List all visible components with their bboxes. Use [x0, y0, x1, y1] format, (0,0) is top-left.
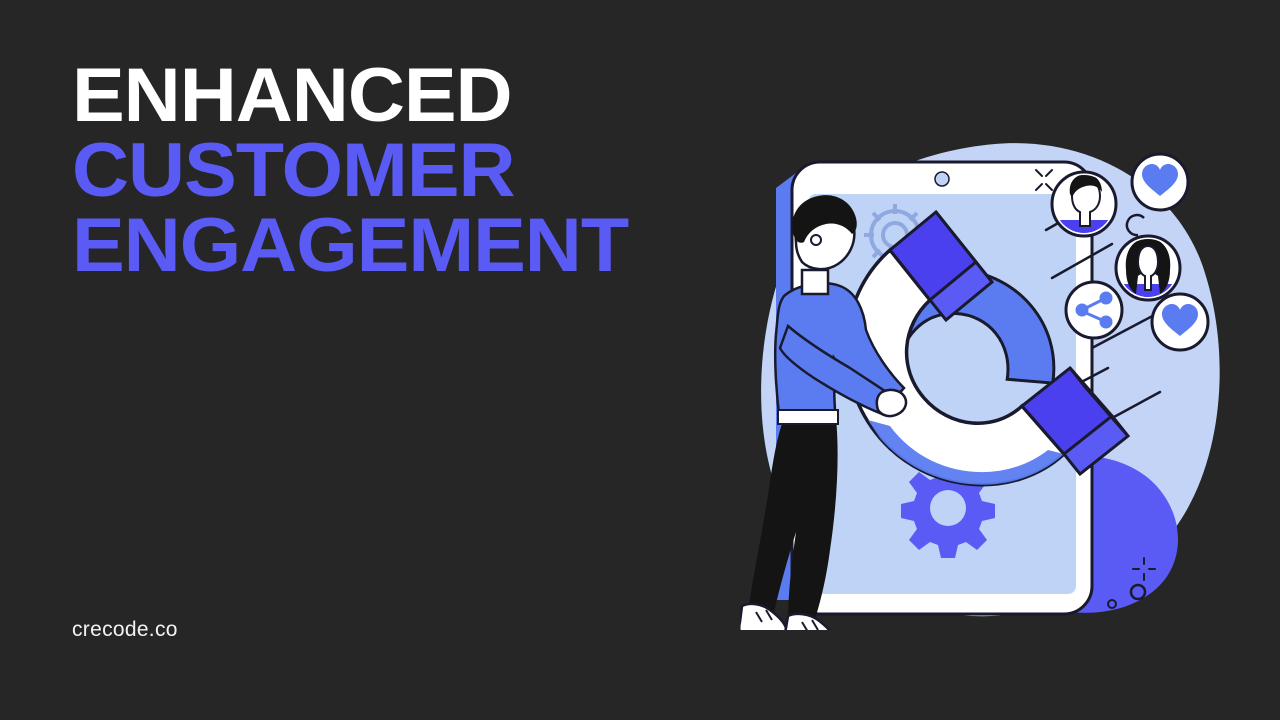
- site-name: crecode.co: [72, 618, 178, 642]
- person-shirt-hem: [778, 410, 838, 424]
- phone-camera-icon: [935, 172, 949, 186]
- person-shoe-left: [740, 604, 786, 630]
- person-neck: [802, 270, 828, 294]
- share-badge: [1066, 282, 1122, 338]
- headline-line-2: CUSTOMER: [72, 133, 738, 208]
- illustration: [740, 130, 1240, 630]
- heart-badge-1: [1132, 154, 1188, 210]
- headline-line-3: ENGAGEMENT: [72, 208, 738, 283]
- heart-badge-2: [1152, 294, 1208, 350]
- person-shoe-right: [785, 614, 834, 630]
- headline-line-1: ENHANCED: [72, 58, 738, 133]
- poster-canvas: ENHANCED CUSTOMER ENGAGEMENT crecode.co: [0, 0, 1280, 720]
- person-hand: [877, 390, 906, 416]
- page-title: ENHANCED CUSTOMER ENGAGEMENT: [72, 58, 712, 284]
